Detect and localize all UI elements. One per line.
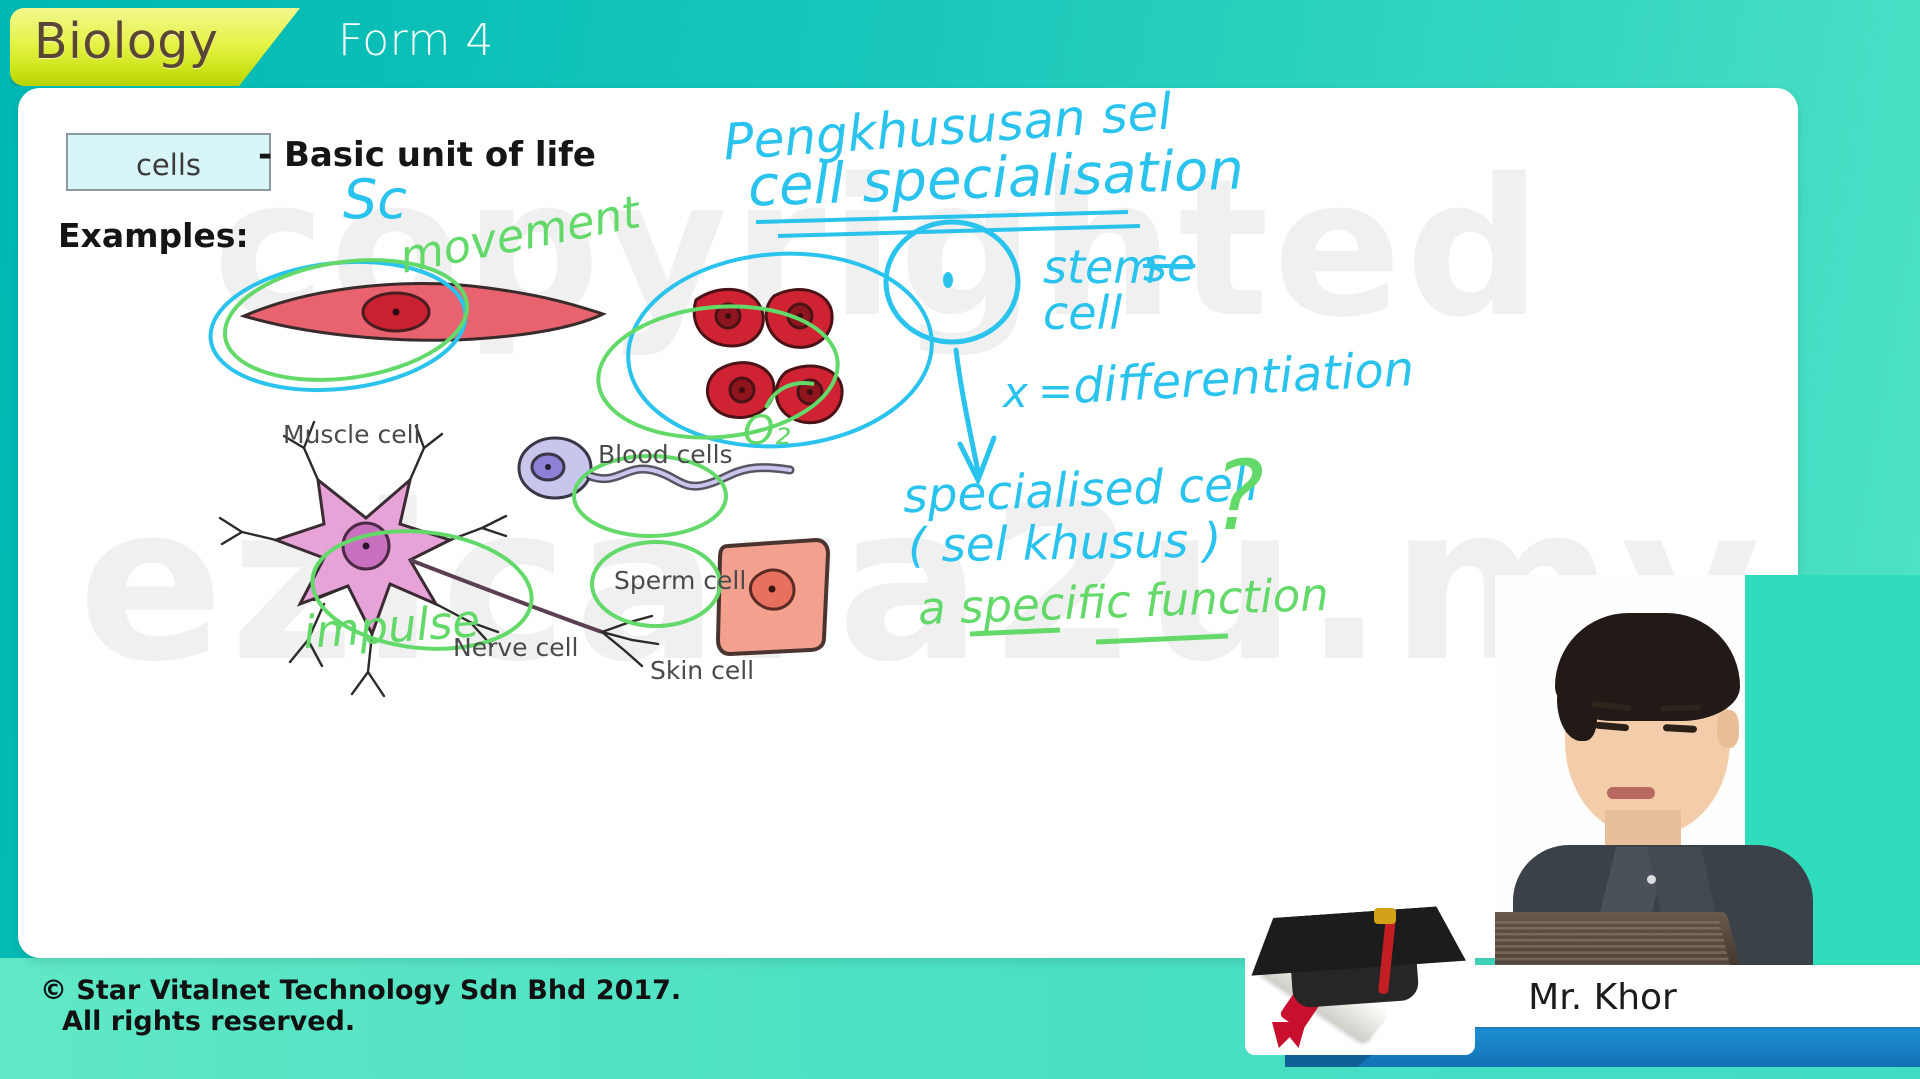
stem-cell-circle bbox=[886, 222, 1018, 342]
presenter-video bbox=[1495, 575, 1920, 975]
copyright-line-1: © Star Vitalnet Technology Sdn Bhd 2017. bbox=[40, 975, 681, 1006]
shirt-button-1 bbox=[1647, 875, 1656, 884]
label-sperm-cell: Sperm cell bbox=[614, 566, 746, 595]
lesson-header: Biology Form 4 bbox=[0, 0, 1920, 92]
copyright-notice: © Star Vitalnet Technology Sdn Bhd 2017.… bbox=[40, 975, 681, 1037]
skin-cell-diagram bbox=[718, 540, 828, 654]
graduation-cap-tassel-knot bbox=[1374, 908, 1396, 924]
form-label: Form 4 bbox=[338, 15, 494, 66]
differentiation-arrow bbox=[956, 350, 994, 480]
annotation-sc: Sc bbox=[343, 168, 407, 231]
annotation-sel-khusus: ( sel khusus ) bbox=[908, 513, 1222, 573]
nerve-cell-diagram bbox=[220, 422, 658, 696]
function-underline-2 bbox=[1096, 636, 1228, 642]
copyright-line-2: All rights reserved. bbox=[62, 1006, 681, 1037]
label-blood-cells: Blood cells bbox=[598, 440, 733, 469]
annotation-stem-strikethrough: se bbox=[1143, 238, 1195, 292]
subject-label: Biology bbox=[34, 13, 218, 70]
annotation-cell: cell bbox=[1043, 286, 1122, 340]
annotation-x-symbol: x bbox=[1003, 368, 1028, 417]
muscle-cell-diagram bbox=[244, 284, 603, 341]
annotation-equals: = bbox=[1038, 366, 1073, 415]
laptop-keyboard bbox=[1495, 921, 1730, 965]
label-skin-cell: Skin cell bbox=[650, 656, 754, 685]
presenter-ear bbox=[1717, 710, 1739, 748]
annotation-question-mark: ? bbox=[1213, 440, 1264, 552]
cellspec-underline-2 bbox=[778, 226, 1140, 236]
presenter-mouth bbox=[1607, 787, 1655, 799]
annotation-oxygen: O₂ bbox=[743, 408, 791, 454]
label-muscle-cell: Muscle cell bbox=[283, 420, 420, 449]
